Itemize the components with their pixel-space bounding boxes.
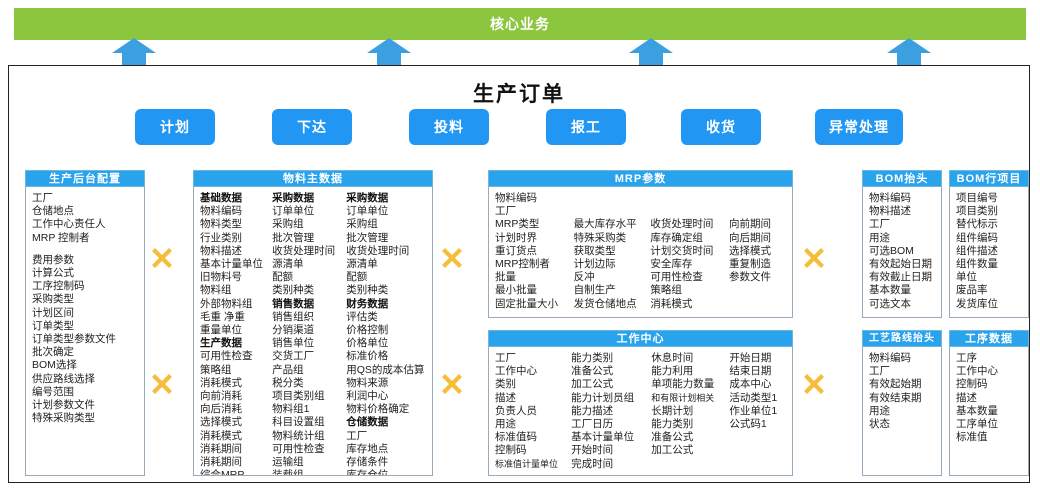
list-item: BOM选择 [32,359,138,372]
list-item: 可选BOM [869,245,935,258]
list-item: 自制生产 [574,284,651,297]
panel-bom-header-column: 物料编码 物料描述 工厂 用途 可选BOM 有效起始日期 有效截止日期 基本数量… [869,192,935,313]
group-title: 基础数据 [200,192,272,205]
panel-bom-item-body: 项目编号 项目类别 替代标示 组件编码 组件描述 组件数量 单位 废品率 发货库… [949,187,1029,318]
list-item: 类别种类 [346,284,426,297]
list-item: 状态 [869,418,935,431]
list-item: 物料编码 [200,205,272,218]
list-item: 配额 [346,271,426,284]
panel-bom-item-title: BOM行项目 [949,170,1029,187]
list-item: 项目编号 [956,192,1022,205]
list-item: 和有限计划相关 [651,392,729,405]
list-item: 特殊采购类 [574,232,651,245]
list-item: 描述 [495,392,571,405]
panel-mrp-params-column-4: 向前期间 向后期间 选择模式 重复制造 参数文件 [729,192,786,313]
panel-bom-item: BOM行项目 项目编号 项目类别 替代标示 组件编码 组件描述 组件数量 单位 … [949,170,1029,318]
process-button-goods-receipt[interactable]: 收货 [681,109,761,145]
list-item: 物料价格确定 [346,403,426,416]
list-item: 有效起始日期 [869,258,935,271]
list-item: 批次管理 [346,232,426,245]
list-item [650,192,729,205]
list-item: 可用性检查 [272,443,346,456]
core-business-banner-label: 核心业务 [490,14,550,34]
list-item: 负责人员 [495,405,571,418]
panel-mrp-params-body: 物料编码 工厂 MRP类型 计划时界 重订货点 MRP控制者 批量 最小批量 固… [488,187,793,318]
list-item: 准备公式 [571,365,651,378]
list-item: 组件描述 [956,245,1022,258]
list-item: 工厂 [346,430,426,443]
group-title: 销售数据 [272,298,346,311]
list-item: 加工公式 [651,444,729,457]
list-item: 采购组 [272,218,346,231]
list-item: 能力计划员组 [571,392,651,405]
list-item: 完成时间 [571,458,651,471]
list-item: 工序单位 [956,418,1022,431]
group-title: 采购数据 [346,192,426,205]
process-button-plan-label: 计划 [160,117,190,137]
panel-mrp-params-column-3: 收货处理时间 库存确定组 计划交货时间 安全库存 可用性检查 策略组 消耗模式 [650,192,729,313]
x-connector-6 [802,372,826,396]
panel-material-master-title: 物料主数据 [193,170,433,187]
list-item: 供应路线选择 [32,373,138,386]
list-item: 物料来源 [346,377,426,390]
list-item: 项目类别组 [272,390,346,403]
list-item: 计划交货时间 [650,245,729,258]
panel-material-master-column-2: 采购数据 订单单位 采购组 批次管理 收货处理时间 源清单 配额 类别种类 销售… [272,192,346,471]
list-item: 休息时间 [651,352,729,365]
list-item: 计划区间 [32,307,138,320]
list-item: 价格单位 [346,337,426,350]
list-item: 基本计量单位 [571,431,651,444]
process-button-confirmation[interactable]: 报工 [546,109,626,145]
list-item: 获取类型 [574,245,651,258]
list-item: 价格控制 [346,324,426,337]
list-item: 交货工厂 [272,350,346,363]
list-item: 特殊采购类型 [32,412,138,425]
list-item: 工厂 [495,352,571,365]
process-button-goods-receipt-label: 收货 [706,117,736,137]
list-item: 用途 [869,405,935,418]
list-item: 向后消耗 [200,403,272,416]
list-item: 策略组 [200,364,272,377]
panel-backend-config-column: 工厂 仓储地点 工作中心责任人 MRP 控制者 费用参数 计算公式 工序控制码 … [32,192,138,471]
process-button-confirmation-label: 报工 [571,117,601,137]
list-item: 单项能力数量 [651,378,729,391]
list-item: 最小批量 [495,284,574,297]
process-button-issue-material-label: 投料 [434,117,464,137]
list-item: 基本数量 [956,405,1022,418]
list-item: 销售组织 [272,311,346,324]
list-item: 可用性检查 [200,350,272,363]
arrow-up-4 [885,37,933,65]
panel-work-center: 工作中心 工厂 工作中心 类别 描述 负责人员 用途 标准值码 控制码 标准值计… [488,330,793,476]
list-item: 固定批量大小 [495,298,574,311]
list-item: 收货处理时间 [346,245,426,258]
panel-mrp-params-column-2: 最大库存水平 特殊采购类 获取类型 计划边际 反冲 自制生产 发货仓储地点 [574,192,651,313]
list-item: 加工公式 [571,378,651,391]
list-item: 反冲 [574,271,651,284]
x-connector-1 [150,246,174,270]
x-connector-4 [440,372,464,396]
list-item: 发货库位 [956,298,1022,311]
panel-operation-data-title: 工序数据 [949,330,1029,347]
group-spacer [32,245,138,254]
list-item: 类别 [495,378,571,391]
panel-operation-data-body: 工序 工作中心 控制码 描述 基本数量 工序单位 标准值 [949,347,1029,476]
arrow-up-3 [627,37,675,65]
list-item: 采购组 [346,218,426,231]
process-button-issue-material[interactable]: 投料 [409,109,489,145]
list-item: 批次确定 [32,346,138,359]
list-item [574,205,651,218]
list-item: 标准价格 [346,350,426,363]
list-item: 发货仓储地点 [574,298,651,311]
list-item: 物料编码 [869,352,935,365]
list-item: 工厂 [869,218,935,231]
panel-mrp-params: MRP参数 物料编码 工厂 MRP类型 计划时界 重订货点 MRP控制者 批量 … [488,170,793,318]
process-button-exception-label: 异常处理 [829,117,889,137]
list-item: 库存地点 [346,443,426,456]
list-item: 工作中心 [956,365,1022,378]
panel-routing-header: 工艺路线抬头 物料编码 工厂 有效起始期 有效结束期 用途 状态 [862,330,942,476]
list-item: 活动类型1 [729,392,786,405]
list-item: 行业类别 [200,232,272,245]
list-item: 有效结束期 [869,392,935,405]
list-item: 选择模式 [729,245,786,258]
list-item: 能力利用 [651,365,729,378]
list-item: 外部物料组 [200,298,272,311]
list-item: 控制码 [495,444,571,457]
list-item: 分销渠道 [272,324,346,337]
list-item: 长期计划 [651,405,729,418]
list-item: 库存确定组 [650,232,729,245]
panel-work-center-column-1: 工厂 工作中心 类别 描述 负责人员 用途 标准值码 控制码 标准值计量单位 [495,352,571,471]
list-item: 物料描述 [869,205,935,218]
list-item: 最大库存水平 [574,218,651,231]
list-item: 能力类别 [651,418,729,431]
list-item: 消耗期间 [200,443,272,456]
list-item: 利润中心 [346,390,426,403]
panel-work-center-title: 工作中心 [488,330,793,347]
list-item: 消耗模式 [650,298,729,311]
panel-bom-header-body: 物料编码 物料描述 工厂 用途 可选BOM 有效起始日期 有效截止日期 基本数量… [862,187,942,318]
list-item [729,192,786,205]
list-item: 能力类别 [571,352,651,365]
list-item: 订单类型参数文件 [32,333,138,346]
list-item: 物料统计组 [272,430,346,443]
process-button-plan[interactable]: 计划 [135,109,215,145]
list-item: 工厂 [32,192,138,205]
list-item: 工作中心责任人 [32,218,138,231]
list-item: 源清单 [272,258,346,271]
list-item: 安全库存 [650,258,729,271]
list-item: 工序 [956,352,1022,365]
panel-mrp-params-column-1: 物料编码 工厂 MRP类型 计划时界 重订货点 MRP控制者 批量 最小批量 固… [495,192,574,313]
core-business-banner: 核心业务 [14,8,1026,40]
list-item: 物料描述 [200,245,272,258]
list-item: 物料组 [200,284,272,297]
list-item: 可用性检查 [650,271,729,284]
list-item: 工厂日历 [571,418,651,431]
list-item: 存储条件 [346,456,426,469]
list-item: 订单类型 [32,320,138,333]
list-item: 向前消耗 [200,390,272,403]
list-item: 物料组1 [272,403,346,416]
x-connector-5 [802,246,826,270]
list-item: 重复制造 [729,258,786,271]
panel-material-master-column-3: 采购数据 订单单位 采购组 批次管理 收货处理时间 源清单 配额 类别种类 财务… [346,192,426,471]
list-item: 选择模式 [200,416,272,429]
list-item: 作业单位1 [729,405,786,418]
page-title: 生产订单 [9,78,1029,108]
list-item: 项目类别 [956,205,1022,218]
panel-material-master-body: 基础数据 物料编码 物料类型 行业类别 物料描述 基本计量单位 旧物料号 物料组… [193,187,433,476]
panel-bom-header-title: BOM抬头 [862,170,942,187]
list-item: 用途 [869,232,935,245]
list-item: 准备公式 [651,431,729,444]
process-button-release-label: 下达 [297,117,327,137]
panel-bom-header: BOM抬头 物料编码 物料描述 工厂 用途 可选BOM 有效起始日期 有效截止日… [862,170,942,318]
panel-backend-config-body: 工厂 仓储地点 工作中心责任人 MRP 控制者 费用参数 计算公式 工序控制码 … [25,187,145,476]
panel-routing-header-body: 物料编码 工厂 有效起始期 有效结束期 用途 状态 [862,347,942,476]
list-item: 向后期间 [729,232,786,245]
list-item: 公式码1 [729,418,786,431]
list-item: 订单单位 [346,205,426,218]
list-item: 向前期间 [729,218,786,231]
list-item: 控制码 [956,378,1022,391]
panel-bom-item-column: 项目编号 项目类别 替代标示 组件编码 组件描述 组件数量 单位 废品率 发货库… [956,192,1022,313]
list-item: 工厂 [495,205,574,218]
panel-material-master: 物料主数据 基础数据 物料编码 物料类型 行业类别 物料描述 基本计量单位 旧物… [193,170,433,476]
list-item: 旧物料号 [200,271,272,284]
list-item: 批次管理 [272,232,346,245]
list-item: 标准值 [956,431,1022,444]
panel-mrp-params-title: MRP参数 [488,170,793,187]
panel-routing-header-title: 工艺路线抬头 [862,330,942,347]
list-item: 单位 [956,271,1022,284]
list-item: 工厂 [869,365,935,378]
list-item: MRP 控制者 [32,232,138,245]
list-item: 科目设置组 [272,416,346,429]
list-item: 开始时间 [571,444,651,457]
group-title: 生产数据 [200,337,272,350]
list-item: 费用参数 [32,254,138,267]
list-item: 描述 [956,392,1022,405]
list-item: 销售单位 [272,337,346,350]
panel-operation-data: 工序数据 工序 工作中心 控制码 描述 基本数量 工序单位 标准值 [949,330,1029,476]
process-button-release[interactable]: 下达 [272,109,352,145]
list-item: MRP控制者 [495,258,574,271]
list-item: 基本数量 [869,284,935,297]
panel-operation-data-column: 工序 工作中心 控制码 描述 基本数量 工序单位 标准值 [956,352,1022,471]
list-item: 物料编码 [869,192,935,205]
list-item: 消耗模式 [200,377,272,390]
list-item: 组件编码 [956,232,1022,245]
list-item: 废品率 [956,284,1022,297]
panel-material-master-column-1: 基础数据 物料编码 物料类型 行业类别 物料描述 基本计量单位 旧物料号 物料组… [200,192,272,471]
arrow-up-1 [110,37,158,65]
list-item: 可选文本 [869,298,935,311]
panel-routing-header-column: 物料编码 工厂 有效起始期 有效结束期 用途 状态 [869,352,935,471]
list-item: 装载组 [272,469,346,476]
panel-backend-config-title: 生产后台配置 [25,170,145,187]
list-item: 库存仓位 [346,469,426,476]
list-item: 配额 [272,271,346,284]
list-item: 类别种类 [272,284,346,297]
list-item: 收货处理时间 [650,218,729,231]
list-item: 仓储地点 [32,205,138,218]
list-item: 工作中心 [495,365,571,378]
list-item: 计划参数文件 [32,399,138,412]
group-title: 仓储数据 [346,416,426,429]
list-item: 参数文件 [729,271,786,284]
x-connector-2 [150,372,174,396]
list-item: 重量单位 [200,324,272,337]
list-item: 标准值码 [495,431,571,444]
list-item: 税分类 [272,377,346,390]
list-item: 替代标示 [956,218,1022,231]
panel-work-center-column-4: 开始日期 结束日期 成本中心 活动类型1 作业单位1 公式码1 [729,352,786,471]
list-item: 用QS的成本估算 [346,364,426,377]
list-item: 编号范围 [32,386,138,399]
panel-work-center-body: 工厂 工作中心 类别 描述 负责人员 用途 标准值码 控制码 标准值计量单位 能… [488,347,793,476]
list-item: 标准值计量单位 [495,458,571,471]
panel-work-center-column-3: 休息时间 能力利用 单项能力数量 和有限计划相关 长期计划 能力类别 准备公式 … [651,352,729,471]
list-item: 策略组 [650,284,729,297]
x-connector-3 [440,246,464,270]
list-item: 物料类型 [200,218,272,231]
arrow-up-2 [365,37,413,65]
list-item: 源清单 [346,258,426,271]
list-item: 批量 [495,271,574,284]
list-item: 工序控制码 [32,280,138,293]
list-item [650,205,729,218]
list-item: 采购类型 [32,293,138,306]
list-item: 订单单位 [272,205,346,218]
list-item [574,192,651,205]
list-item: 成本中心 [729,378,786,391]
list-item: 用途 [495,418,571,431]
list-item: 收货处理时间 [272,245,346,258]
panel-work-center-column-2: 能力类别 准备公式 加工公式 能力计划员组 能力描述 工厂日历 基本计量单位 开… [571,352,651,471]
list-item: 基本计量单位 [200,258,272,271]
list-item: 计划边际 [574,258,651,271]
list-item: MRP类型 [495,218,574,231]
list-item: 有效起始期 [869,378,935,391]
list-item: 重订货点 [495,245,574,258]
group-title: 采购数据 [272,192,346,205]
list-item: 有效截止日期 [869,271,935,284]
list-item: 运输组 [272,456,346,469]
process-button-exception[interactable]: 异常处理 [815,109,903,145]
list-item: 产品组 [272,364,346,377]
list-item: 组件数量 [956,258,1022,271]
list-item: 消耗期间 [200,456,272,469]
list-item: 消耗模式 [200,430,272,443]
list-item: 计算公式 [32,267,138,280]
list-item: 毛重 净重 [200,311,272,324]
list-item: 结束日期 [729,365,786,378]
list-item: 综合MRP [200,469,272,476]
list-item: 计划时界 [495,232,574,245]
group-title: 财务数据 [346,298,426,311]
list-item: 评估类 [346,311,426,324]
list-item: 能力描述 [571,405,651,418]
list-item: 物料编码 [495,192,574,205]
list-item: 开始日期 [729,352,786,365]
panel-backend-config: 生产后台配置 工厂 仓储地点 工作中心责任人 MRP 控制者 费用参数 计算公式… [25,170,145,476]
list-item [729,205,786,218]
